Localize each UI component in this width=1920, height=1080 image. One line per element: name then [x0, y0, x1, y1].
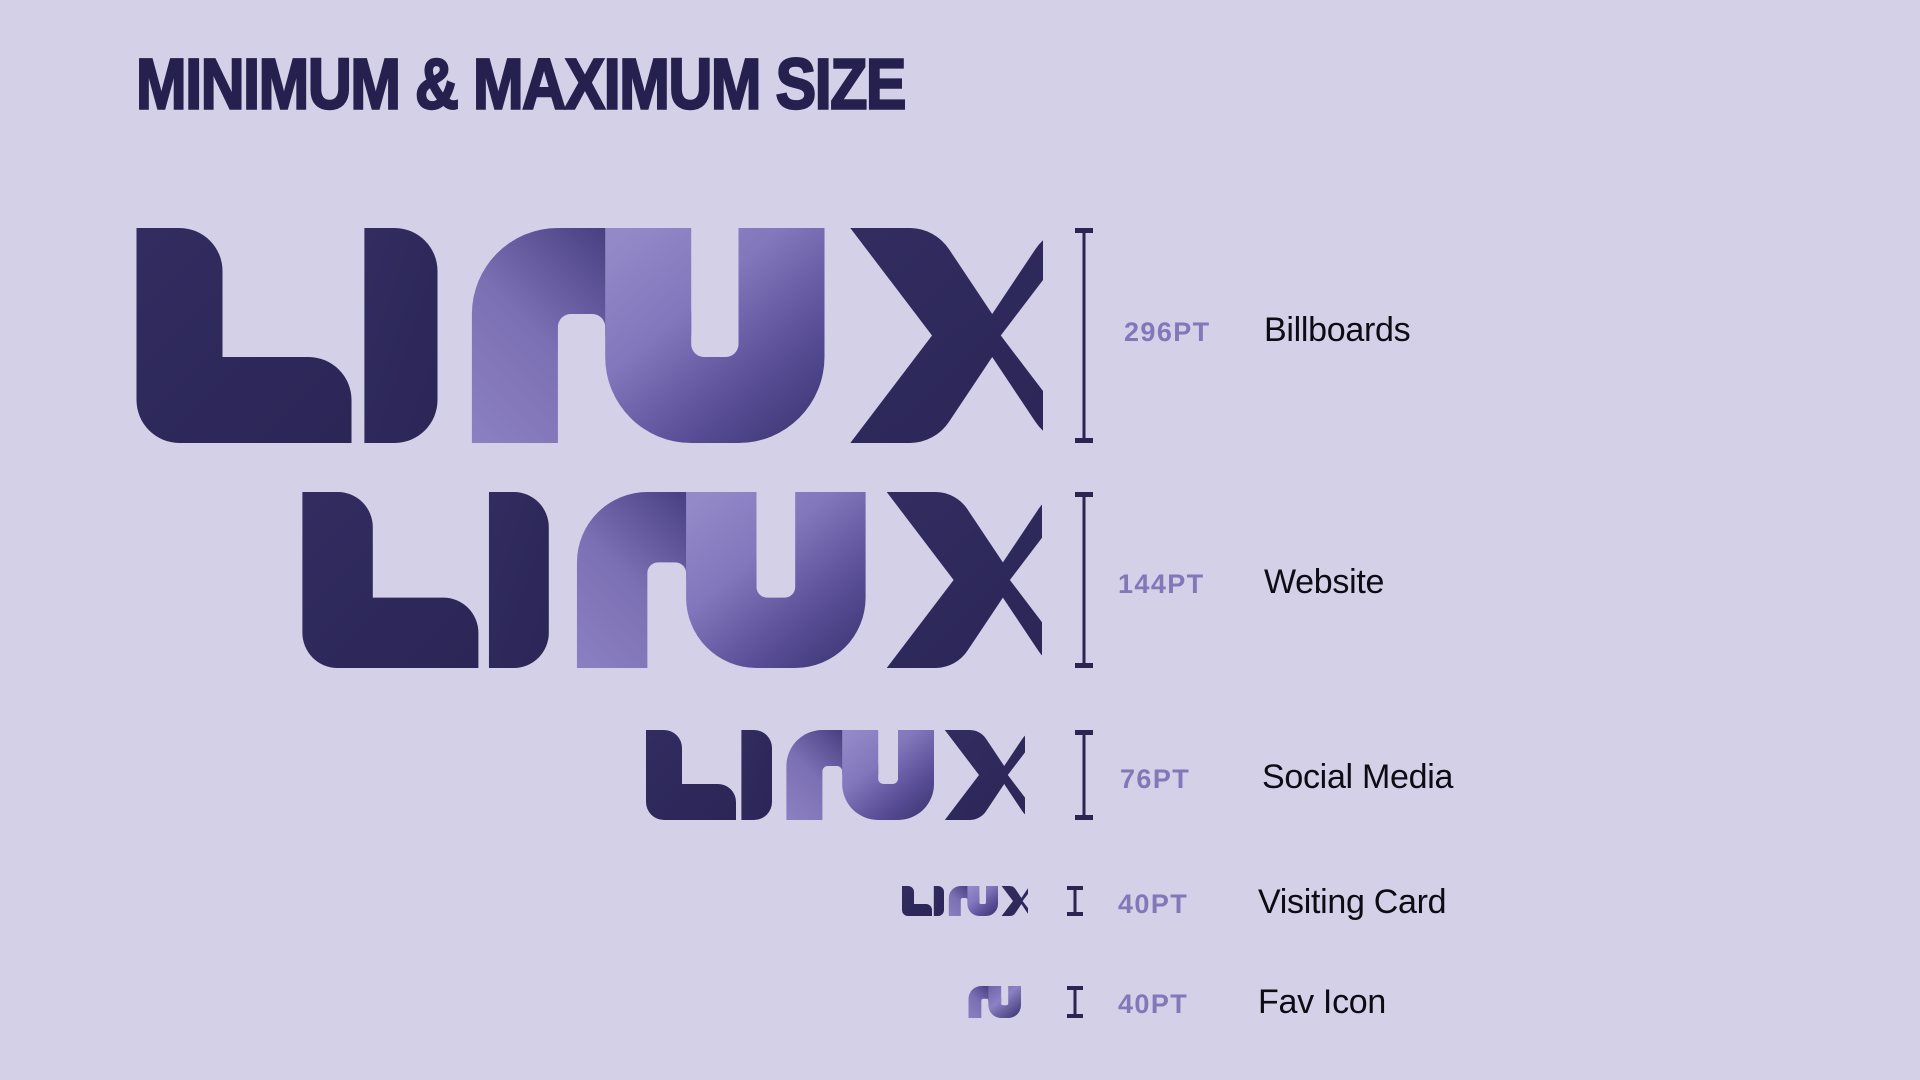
favicon-u-stroke: [988, 986, 1021, 1018]
usage-label-fav-icon: Fav Icon: [1258, 983, 1386, 1022]
dimension-bracket-fav-icon: [1063, 986, 1087, 1018]
logo-favicon-mark: [968, 986, 1920, 1080]
size-row-fav-icon: 40PT Fav Icon: [0, 0, 1920, 1080]
size-value-fav-icon: 40PT: [1118, 989, 1188, 1020]
